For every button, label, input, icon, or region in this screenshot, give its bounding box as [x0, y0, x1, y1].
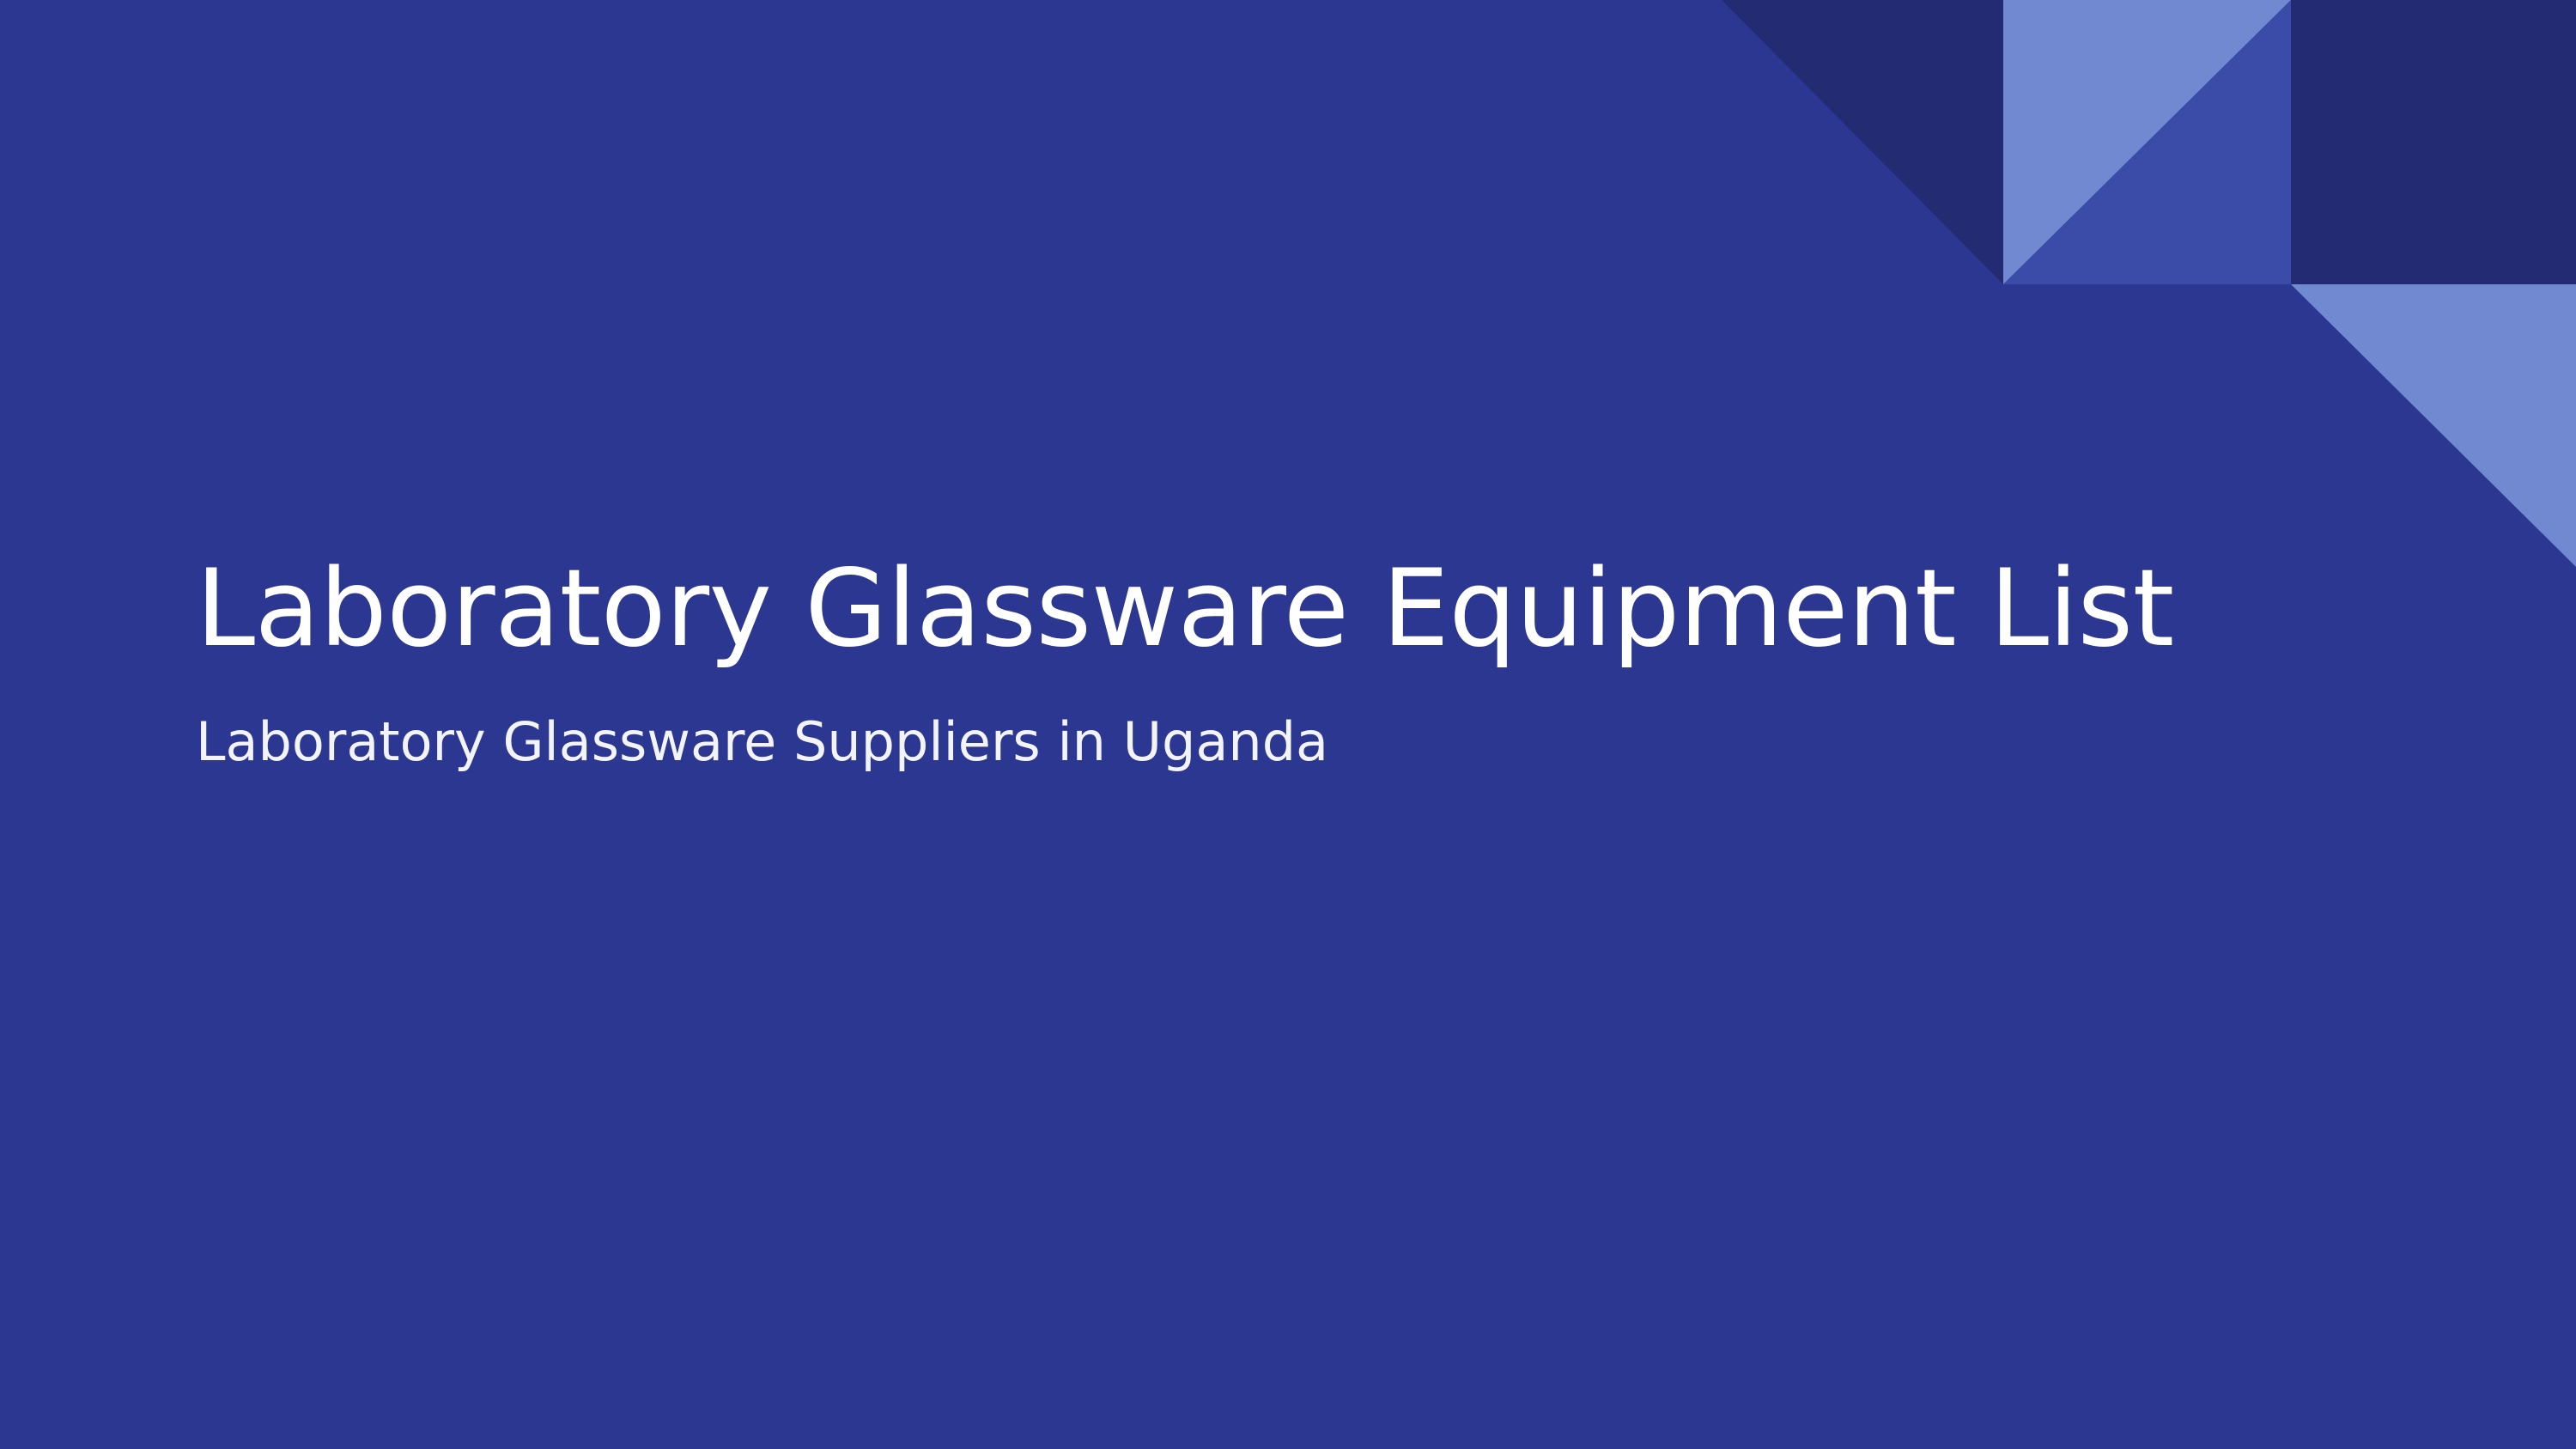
page-subtitle: Laboratory Glassware Suppliers in Uganda: [196, 669, 2300, 774]
navy-block-right-shape: [2291, 0, 2576, 284]
periwinkle-triangle-lower-shape: [2291, 284, 2576, 567]
navy-wedge-upper-left-shape: [1722, 0, 2003, 284]
page-title: Laboratory Glassware Equipment List: [196, 550, 2300, 669]
mid-blue-square-half-shape: [2003, 0, 2291, 284]
presentation-slide: Laboratory Glassware Equipment List Labo…: [0, 0, 2576, 1449]
title-text-block: Laboratory Glassware Equipment List Labo…: [196, 550, 2300, 774]
periwinkle-square-half-shape: [2003, 0, 2291, 284]
